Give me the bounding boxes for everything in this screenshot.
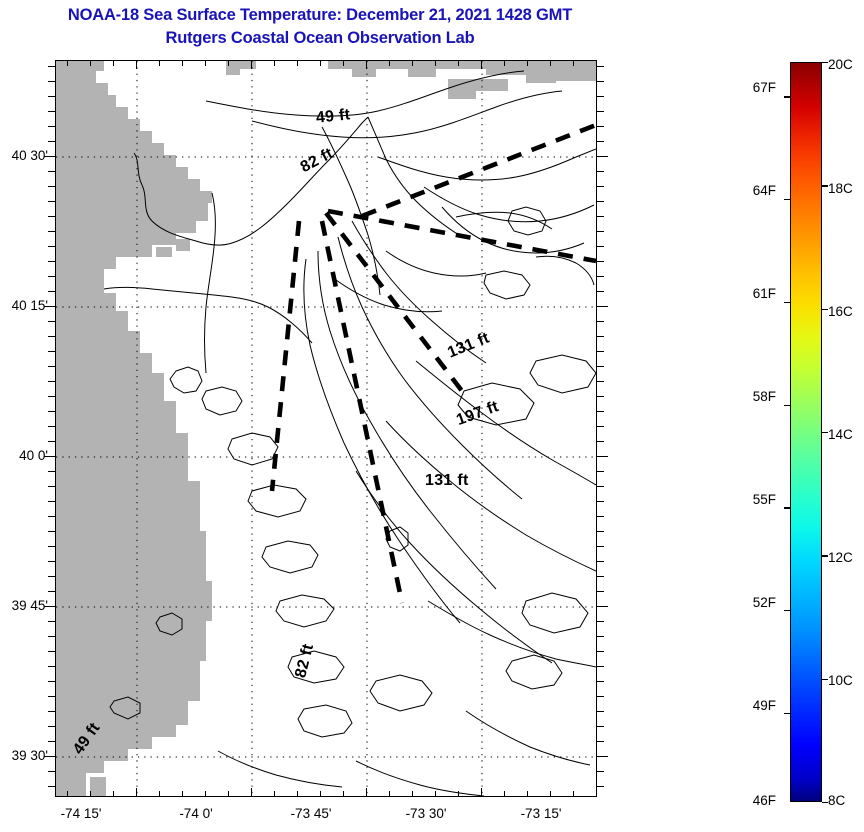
ytick-right-38: [597, 636, 604, 637]
xtick-top-11: [320, 60, 321, 66]
ytick-left-41: [48, 681, 55, 682]
colorbar-tick-c-1: [822, 185, 828, 186]
colorbar-f-label-6: 49F: [676, 698, 776, 713]
xtick-top-15: [412, 60, 413, 66]
xtick-top-12: [343, 60, 344, 66]
xtick-top-19: [504, 60, 505, 66]
colorbar-tick-c-6: [822, 802, 828, 803]
ytick-left-0: [48, 66, 55, 67]
colorbar-gradient: [790, 62, 822, 802]
transect-line-1: [362, 125, 596, 216]
ytick-left-4: [48, 126, 55, 127]
ytick-label-1: 40 15': [0, 298, 48, 313]
ytick-label-0: 40 30': [0, 148, 48, 163]
xtick-bottom-16: [435, 791, 436, 797]
ytick-right-22: [597, 396, 604, 397]
xtick-bottom-0: [67, 791, 68, 797]
xtick-top-0: [67, 60, 68, 66]
colorbar-tick-f-4: [784, 507, 790, 508]
ytick-right-29: [597, 501, 604, 502]
colorbar-c-label-2: 16C: [828, 304, 853, 319]
colorbar-tick-c-2: [822, 309, 828, 310]
ytick-right-12: [597, 246, 604, 247]
colorbar-c-label-5: 10C: [828, 673, 853, 688]
xtick-bottom-22: [573, 791, 574, 797]
xtick-top-3: [136, 60, 137, 69]
colorbar-tick-f-6: [784, 713, 790, 714]
ytick-left-18: [48, 336, 55, 337]
xtick-label-3: -73 30': [376, 806, 476, 821]
ytick-left-22: [48, 396, 55, 397]
ytick-left-24: [48, 426, 55, 427]
ytick-left-34: [48, 576, 55, 577]
ytick-right-25: [597, 441, 604, 442]
colorbar-f-label-0: 67F: [676, 80, 776, 95]
colorbar-c-label-6: 8C: [828, 793, 845, 808]
ytick-left-27: [48, 471, 55, 472]
xtick-bottom-5: [182, 791, 183, 797]
colorbar-tick-c-3: [822, 432, 828, 433]
xtick-bottom-12: [343, 791, 344, 797]
ytick-right-37: [597, 621, 604, 622]
ytick-right-46: [597, 756, 608, 757]
ytick-left-15: [48, 291, 55, 292]
ytick-right-39: [597, 651, 604, 652]
xtick-bottom-9: [274, 791, 275, 797]
xtick-top-1: [90, 60, 91, 66]
colorbar-f-label-2: 61F: [676, 286, 776, 301]
xtick-label-0: -74 15': [31, 806, 131, 821]
ytick-right-48: [597, 786, 604, 787]
ytick-right-34: [597, 576, 604, 577]
ytick-right-30: [597, 516, 604, 517]
xtick-bottom-19: [504, 791, 505, 797]
contour-k: [218, 751, 342, 787]
cloud-blob-b: [484, 271, 530, 299]
colorbar-tick-f-5: [784, 610, 790, 611]
colorbar-f-label-5: 52F: [676, 595, 776, 610]
colorbar-tick-f-3: [784, 405, 790, 406]
xtick-bottom-2: [113, 791, 114, 797]
cloud-edge-n4: [424, 187, 594, 222]
ytick-left-5: [48, 141, 55, 142]
cloud-edge-n1: [206, 71, 524, 116]
ytick-left-20: [48, 366, 55, 367]
ytick-right-6: [597, 156, 608, 157]
colorbar-tick-c-0: [822, 62, 828, 63]
xtick-bottom-21: [550, 791, 551, 797]
ytick-right-14: [597, 276, 604, 277]
xtick-bottom-4: [159, 791, 160, 797]
transect-layer: [272, 125, 596, 603]
cloud-edge-n6: [386, 251, 486, 276]
ytick-label-3: 39 45': [0, 598, 48, 613]
xtick-top-2: [113, 60, 114, 66]
xtick-bottom-3: [136, 788, 137, 797]
land-mask-patch-d: [176, 239, 190, 251]
xtick-bottom-6: [205, 791, 206, 797]
ytick-right-10: [597, 216, 604, 217]
ytick-right-26: [597, 456, 608, 457]
ytick-left-42: [48, 696, 55, 697]
cloud-blob-f: [262, 541, 318, 573]
ytick-right-1: [597, 81, 604, 82]
ytick-right-0: [597, 66, 604, 67]
contour-g: [356, 471, 552, 663]
colorbar[interactable]: [790, 62, 822, 802]
xtick-top-4: [159, 60, 160, 66]
ytick-left-31: [48, 531, 55, 532]
ytick-right-18: [597, 336, 604, 337]
ytick-right-13: [597, 261, 604, 262]
ytick-left-37: [48, 621, 55, 622]
colorbar-f-label-7: 46F: [676, 793, 776, 808]
xtick-label-4: -73 15': [491, 806, 591, 821]
depth-label-131ft-lower: 131 ft: [425, 472, 469, 490]
xtick-top-13: [366, 60, 367, 69]
colorbar-f-label-3: 58F: [676, 389, 776, 404]
ytick-left-25: [48, 441, 55, 442]
ytick-left-47: [48, 771, 55, 772]
ytick-left-10: [48, 216, 55, 217]
contour-j: [356, 761, 484, 796]
depth-label-49ft-north: 49 ft: [315, 106, 351, 127]
ytick-right-24: [597, 426, 604, 427]
cloud-blob-j: [170, 367, 202, 393]
xtick-top-21: [550, 60, 551, 66]
xtick-bottom-17: [458, 791, 459, 797]
land-mask-patch-e: [156, 247, 172, 257]
cloud-blob-o: [522, 593, 588, 633]
ytick-right-3: [597, 111, 604, 112]
xtick-bottom-7: [228, 791, 229, 797]
xtick-bottom-1: [90, 791, 91, 797]
ytick-left-33: [48, 561, 55, 562]
ytick-left-23: [48, 411, 55, 412]
ytick-left-14: [48, 276, 55, 277]
ytick-left-40: [48, 666, 55, 667]
ytick-left-21: [48, 381, 55, 382]
cloud-blob-c: [202, 387, 242, 415]
ytick-left-12: [48, 246, 55, 247]
xtick-bottom-23: [596, 788, 597, 797]
ytick-right-15: [597, 291, 604, 292]
xtick-bottom-15: [412, 791, 413, 797]
ytick-right-23: [597, 411, 604, 412]
cloud-blob-g: [276, 595, 334, 627]
xtick-top-9: [274, 60, 275, 66]
colorbar-tick-c-4: [822, 555, 828, 556]
xtick-top-18: [481, 60, 482, 69]
ytick-right-7: [597, 171, 604, 172]
ytick-right-19: [597, 351, 604, 352]
ytick-right-2: [597, 96, 604, 97]
colorbar-c-label-3: 14C: [828, 427, 853, 442]
colorbar-f-label-1: 64F: [676, 183, 776, 198]
land-mask-patch-f: [56, 761, 86, 796]
ytick-left-1: [48, 81, 55, 82]
contour-f: [386, 421, 596, 571]
colorbar-c-label-0: 20C: [828, 57, 853, 72]
colorbar-tick-c-5: [822, 679, 828, 680]
colorbar-c-label-4: 12C: [828, 550, 853, 565]
ytick-right-44: [597, 726, 604, 727]
ytick-left-35: [48, 591, 55, 592]
ytick-left-30: [48, 516, 55, 517]
ytick-left-3: [48, 111, 55, 112]
cloud-edge-n2: [252, 91, 562, 138]
ytick-left-7: [48, 171, 55, 172]
ytick-right-5: [597, 141, 604, 142]
ytick-left-43: [48, 711, 55, 712]
colorbar-tick-f-0: [784, 96, 790, 97]
ytick-right-36: [597, 606, 608, 607]
cloud-blob-i: [298, 705, 352, 737]
xtick-bottom-20: [527, 791, 528, 797]
ytick-left-29: [48, 501, 55, 502]
ytick-right-16: [597, 306, 608, 307]
ytick-left-38: [48, 636, 55, 637]
ytick-left-32: [48, 546, 55, 547]
cloud-blob-e: [248, 485, 306, 517]
xtick-bottom-11: [320, 791, 321, 797]
ytick-right-4: [597, 126, 604, 127]
xtick-label-1: -74 0': [146, 806, 246, 821]
cloud-blob-p: [506, 655, 562, 689]
ytick-right-17: [597, 321, 604, 322]
xtick-bottom-14: [389, 791, 390, 797]
ytick-left-9: [48, 201, 55, 202]
colorbar-tick-f-1: [784, 199, 790, 200]
xtick-top-20: [527, 60, 528, 66]
xtick-bottom-18: [481, 788, 482, 797]
ytick-left-8: [48, 186, 55, 187]
xtick-top-23: [596, 60, 597, 69]
chart-title-block: NOAA-18 Sea Surface Temperature: Decembe…: [0, 4, 640, 50]
xtick-top-17: [458, 60, 459, 66]
cloud-blob-k: [370, 675, 432, 711]
ytick-right-31: [597, 531, 604, 532]
xtick-top-10: [297, 60, 298, 66]
map-clip: [56, 61, 596, 796]
xtick-top-8: [251, 60, 252, 69]
xtick-top-6: [205, 60, 206, 66]
ytick-right-8: [597, 186, 604, 187]
xtick-top-7: [228, 60, 229, 66]
ytick-right-21: [597, 381, 604, 382]
xtick-top-5: [182, 60, 183, 66]
ytick-right-9: [597, 201, 604, 202]
land-mask-patch-b: [448, 79, 508, 99]
contour-b: [338, 237, 522, 499]
ytick-right-11: [597, 231, 604, 232]
xtick-top-16: [435, 60, 436, 66]
ytick-left-17: [48, 321, 55, 322]
land-mask-patch-g: [90, 777, 106, 796]
xtick-label-2: -73 45': [261, 806, 361, 821]
land-mask-nj: [56, 61, 212, 796]
ytick-label-4: 39 30': [0, 748, 48, 763]
ytick-left-44: [48, 726, 55, 727]
ytick-left-28: [48, 486, 55, 487]
ytick-left-13: [48, 261, 55, 262]
ytick-left-39: [48, 651, 55, 652]
ytick-right-40: [597, 666, 604, 667]
ytick-right-33: [597, 561, 604, 562]
ytick-right-41: [597, 681, 604, 682]
xtick-bottom-8: [251, 788, 252, 797]
sst-map-panel[interactable]: [55, 60, 597, 797]
xtick-top-22: [573, 60, 574, 66]
cloud-edge-n8: [332, 277, 442, 312]
ytick-right-45: [597, 741, 604, 742]
title-line-1: NOAA-18 Sea Surface Temperature: Decembe…: [0, 4, 640, 27]
xtick-bottom-10: [297, 791, 298, 797]
colorbar-c-label-1: 18C: [828, 181, 853, 196]
ytick-right-47: [597, 771, 604, 772]
ytick-right-28: [597, 486, 604, 487]
xtick-bottom-13: [366, 788, 367, 797]
cloud-blob-r: [530, 355, 596, 393]
ytick-right-42: [597, 696, 604, 697]
map-graphic: [56, 61, 596, 796]
ytick-left-11: [48, 231, 55, 232]
ytick-left-48: [48, 786, 55, 787]
ytick-right-27: [597, 471, 604, 472]
ytick-left-19: [48, 351, 55, 352]
ytick-right-20: [597, 366, 604, 367]
ytick-right-32: [597, 546, 604, 547]
colorbar-tick-f-2: [784, 302, 790, 303]
ytick-left-2: [48, 96, 55, 97]
ytick-label-2: 40 0': [0, 448, 48, 463]
ytick-left-45: [48, 741, 55, 742]
cloud-blob-d: [228, 433, 278, 465]
ytick-right-43: [597, 711, 604, 712]
colorbar-f-label-4: 55F: [676, 492, 776, 507]
title-line-2: Rutgers Coastal Ocean Observation Lab: [0, 27, 640, 50]
xtick-top-14: [389, 60, 390, 66]
ytick-right-35: [597, 591, 604, 592]
cloud-edge-n3: [378, 149, 596, 180]
